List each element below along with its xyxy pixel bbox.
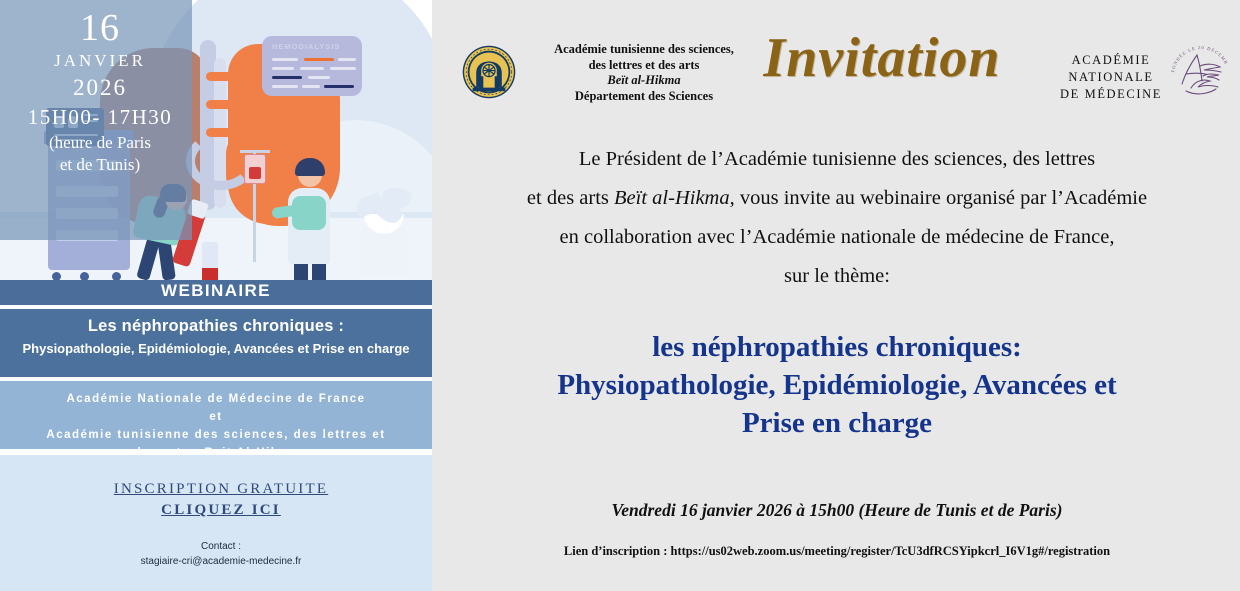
org-line3: Académie tunisienne des sciences, des le…	[0, 426, 432, 444]
hikma-text-line3: Beït al-Hikma	[524, 73, 764, 89]
poster-title-line1: Les néphropathies chroniques :	[0, 309, 432, 336]
blood-vessel-graphic	[228, 72, 237, 162]
invitation-header: Académie tunisienne des sciences, des le…	[432, 0, 1240, 120]
panel-row	[300, 67, 324, 70]
hikma-text-line1: Académie tunisienne des sciences,	[524, 42, 764, 58]
invitation-title: Invitation	[732, 26, 1032, 90]
registration-link[interactable]: INSCRIPTION GRATUITE CLIQUEZ ICI	[96, 481, 346, 519]
plant-stand	[360, 228, 408, 276]
anm-signature-mark-icon: FONDÉE LE 20 DÉCEMBRE 1820	[1170, 38, 1232, 100]
theme-line2: Physiopathologie, Epidémiologie, Avancée…	[452, 366, 1222, 404]
registration-free-label: INSCRIPTION GRATUITE	[96, 481, 346, 498]
hemodialysis-panel-label: HEMODIALYSIS	[272, 42, 340, 51]
contact-label: Contact :	[96, 539, 346, 554]
poster-title-line2: Physiopathologie, Epidémiologie, Avancée…	[0, 336, 432, 357]
panel-row-dark	[272, 76, 302, 79]
hikma-logo-text: Académie tunisienne des sciences, des le…	[524, 42, 764, 104]
date-year: 2026	[0, 74, 200, 102]
webinaire-label: WEBINAIRE	[0, 281, 432, 301]
link-url[interactable]: https://us02web.zoom.us/meeting/register…	[671, 544, 1111, 558]
invitation-page: HEMODIALYSIS	[0, 0, 1240, 591]
invitation-registration-link-line: Lien d’inscription : https://us02web.zoo…	[452, 544, 1222, 559]
body-line2-suffix: , vous invite au webinaire organisé par …	[730, 187, 1147, 209]
panel-row	[330, 67, 356, 70]
panel-row	[272, 67, 294, 70]
anm-text-line3: DE MÉDECINE	[1052, 86, 1170, 103]
body-line1: Le Président de l’Académie tunisienne de…	[452, 140, 1222, 179]
invitation-body: Le Président de l’Académie tunisienne de…	[452, 140, 1222, 296]
body-line2-italic: Beït al-Hikma	[614, 187, 730, 209]
body-line3: en collaboration avec l’Académie nationa…	[452, 218, 1222, 257]
theme-line1: les néphropathies chroniques:	[452, 328, 1222, 366]
contact-email[interactable]: stagiaire-cri@academie-medecine.fr	[96, 554, 346, 569]
anm-text-line2: NATIONALE	[1052, 69, 1170, 86]
blood-bag-icon	[244, 154, 266, 184]
beit-al-hikma-logo-icon	[462, 45, 516, 99]
invitation-date-line: Vendredi 16 janvier 2026 à 15h00 (Heure …	[452, 500, 1222, 521]
panel-row	[302, 85, 320, 88]
poster-date-block: 16 JANVIER 2026 15H00- 17H30 (heure de P…	[0, 8, 200, 176]
panel-row	[338, 58, 356, 61]
poster-title-band: Les néphropathies chroniques : Physiopat…	[0, 309, 432, 377]
invitation-panel: Académie tunisienne des sciences, des le…	[432, 0, 1240, 591]
link-label: Lien d’inscription :	[564, 544, 671, 558]
registration-contact: Contact : stagiaire-cri@academie-medecin…	[96, 539, 346, 569]
date-month: JANVIER	[0, 48, 200, 74]
panel-row	[308, 76, 330, 79]
body-line4: sur le thème:	[452, 257, 1222, 296]
hikma-text-line4: Département des Sciences	[524, 89, 764, 105]
panel-row	[272, 85, 298, 88]
org-line1: Académie Nationale de Médecine de France	[0, 390, 432, 408]
panel-row	[272, 58, 298, 61]
anm-text-line1: ACADÉMIE	[1052, 52, 1170, 69]
date-day: 16	[0, 8, 200, 48]
panel-row-dark	[324, 85, 354, 88]
anm-logo-text: ACADÉMIE NATIONALE DE MÉDECINE	[1052, 52, 1170, 103]
registration-click-here[interactable]: CLIQUEZ ICI	[96, 498, 346, 519]
date-time-range: 15H00- 17H30	[0, 102, 200, 132]
theme-line3: Prise en charge	[452, 404, 1222, 442]
hikma-text-line2: des lettres et des arts	[524, 58, 764, 74]
event-poster: HEMODIALYSIS	[0, 0, 432, 591]
body-line2: et des arts Beït al-Hikma, vous invite a…	[452, 179, 1222, 218]
panel-row-highlight	[304, 58, 334, 61]
anm-logo-block: ACADÉMIE NATIONALE DE MÉDECINE FONDÉE LE…	[1052, 38, 1232, 108]
org-line2: et	[0, 408, 432, 426]
body-line2-prefix: et des arts	[527, 187, 614, 209]
invitation-theme-title: les néphropathies chroniques: Physiopath…	[452, 328, 1222, 442]
poster-organisations-band: Académie Nationale de Médecine de France…	[0, 381, 432, 449]
date-timezone-line2: et de Tunis)	[0, 154, 200, 176]
poster-registration-band: FONDÉE LE 20 DÉCEMBRE 1820 INSCRIPTION G…	[0, 455, 432, 591]
date-timezone-line1: (heure de Paris	[0, 132, 200, 154]
